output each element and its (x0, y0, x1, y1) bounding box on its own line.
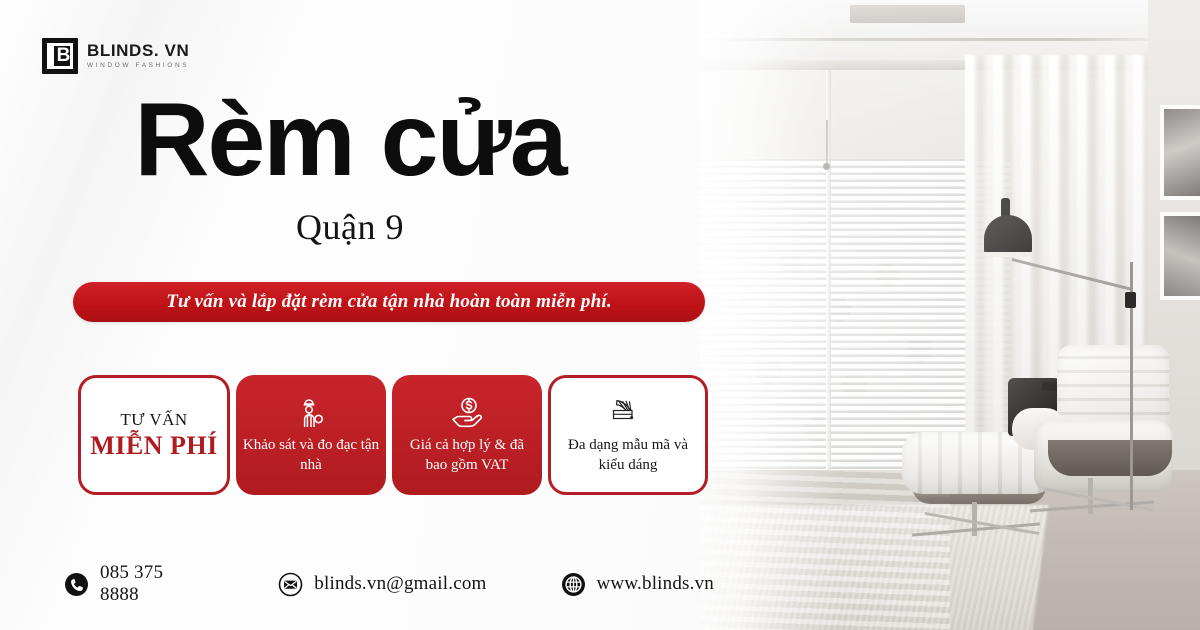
promo-banner: B BLINDS. VN WINDOW FASHIONS Rèm cửa Quậ… (0, 0, 1200, 630)
hand-coin-icon (450, 395, 484, 429)
envelope-icon (278, 572, 303, 597)
page-title: Rèm cửa (0, 84, 700, 196)
brand-logo[interactable]: B BLINDS. VN WINDOW FASHIONS (42, 38, 189, 74)
feature-card-label: Giá cả hợp lý & đã bao gồm VAT (398, 435, 536, 475)
feature-card-tu-van-mien-phi[interactable]: TƯ VẤN MIỄN PHÍ (78, 375, 230, 495)
logo-text: BLINDS. VN WINDOW FASHIONS (87, 41, 189, 71)
blinds-logo-mark-icon: B (42, 38, 78, 74)
feature-card-line1: TƯ VẤN (120, 409, 187, 431)
framed-artwork-bottom (1160, 212, 1200, 300)
contact-email[interactable]: blinds.vn@gmail.com (278, 572, 486, 597)
website-url: www.blinds.vn (597, 573, 714, 595)
feature-card-label: Khảo sát và đo đạc tận nhà (242, 435, 380, 475)
feature-card-line2: MIỄN PHÍ (90, 431, 218, 461)
feature-card-da-dang-mau-ma[interactable]: Đa dạng mẫu mã và kiểu dáng (548, 375, 708, 495)
feature-cards: TƯ VẤN MIỄN PHÍ Khảo sát và đo đạc tận n… (78, 375, 712, 495)
ceiling-vent (850, 5, 965, 23)
framed-artwork-top (1160, 105, 1200, 200)
globe-icon (561, 572, 586, 597)
floor-lamp-joint (1125, 292, 1136, 308)
fan-blind-icon (606, 395, 650, 429)
feature-card-gia-ca-hop-ly[interactable]: Giá cả hợp lý & đã bao gồm VAT (392, 375, 542, 495)
brand-tagline: WINDOW FASHIONS (87, 61, 189, 71)
page-subtitle: Quận 9 (0, 206, 700, 248)
contact-website[interactable]: www.blinds.vn (561, 572, 714, 597)
promo-pill: Tư vấn và lắp đặt rèm cửa tận nhà hoàn t… (73, 282, 705, 322)
worker-icon (296, 395, 326, 429)
brand-name: BLINDS. VN (87, 41, 189, 60)
floor-lamp-bulb (984, 252, 1032, 257)
chair-shell (1048, 440, 1172, 476)
feature-card-label: Đa dạng mẫu mã và kiểu dáng (557, 435, 699, 475)
logo-mark-letter: B (56, 45, 71, 67)
email-address: blinds.vn@gmail.com (314, 573, 486, 595)
contact-bar: 085 375 8888 blinds.vn@gmail.com (64, 562, 714, 606)
contact-phone[interactable]: 085 375 8888 (64, 562, 204, 606)
phone-number: 085 375 8888 (100, 562, 204, 606)
feature-card-khao-sat-do-dac[interactable]: Khảo sát và đo đạc tận nhà (236, 375, 386, 495)
promo-pill-text: Tư vấn và lắp đặt rèm cửa tận nhà hoàn t… (166, 291, 612, 313)
floor-lamp-shade (984, 215, 1032, 257)
phone-icon (64, 572, 89, 597)
